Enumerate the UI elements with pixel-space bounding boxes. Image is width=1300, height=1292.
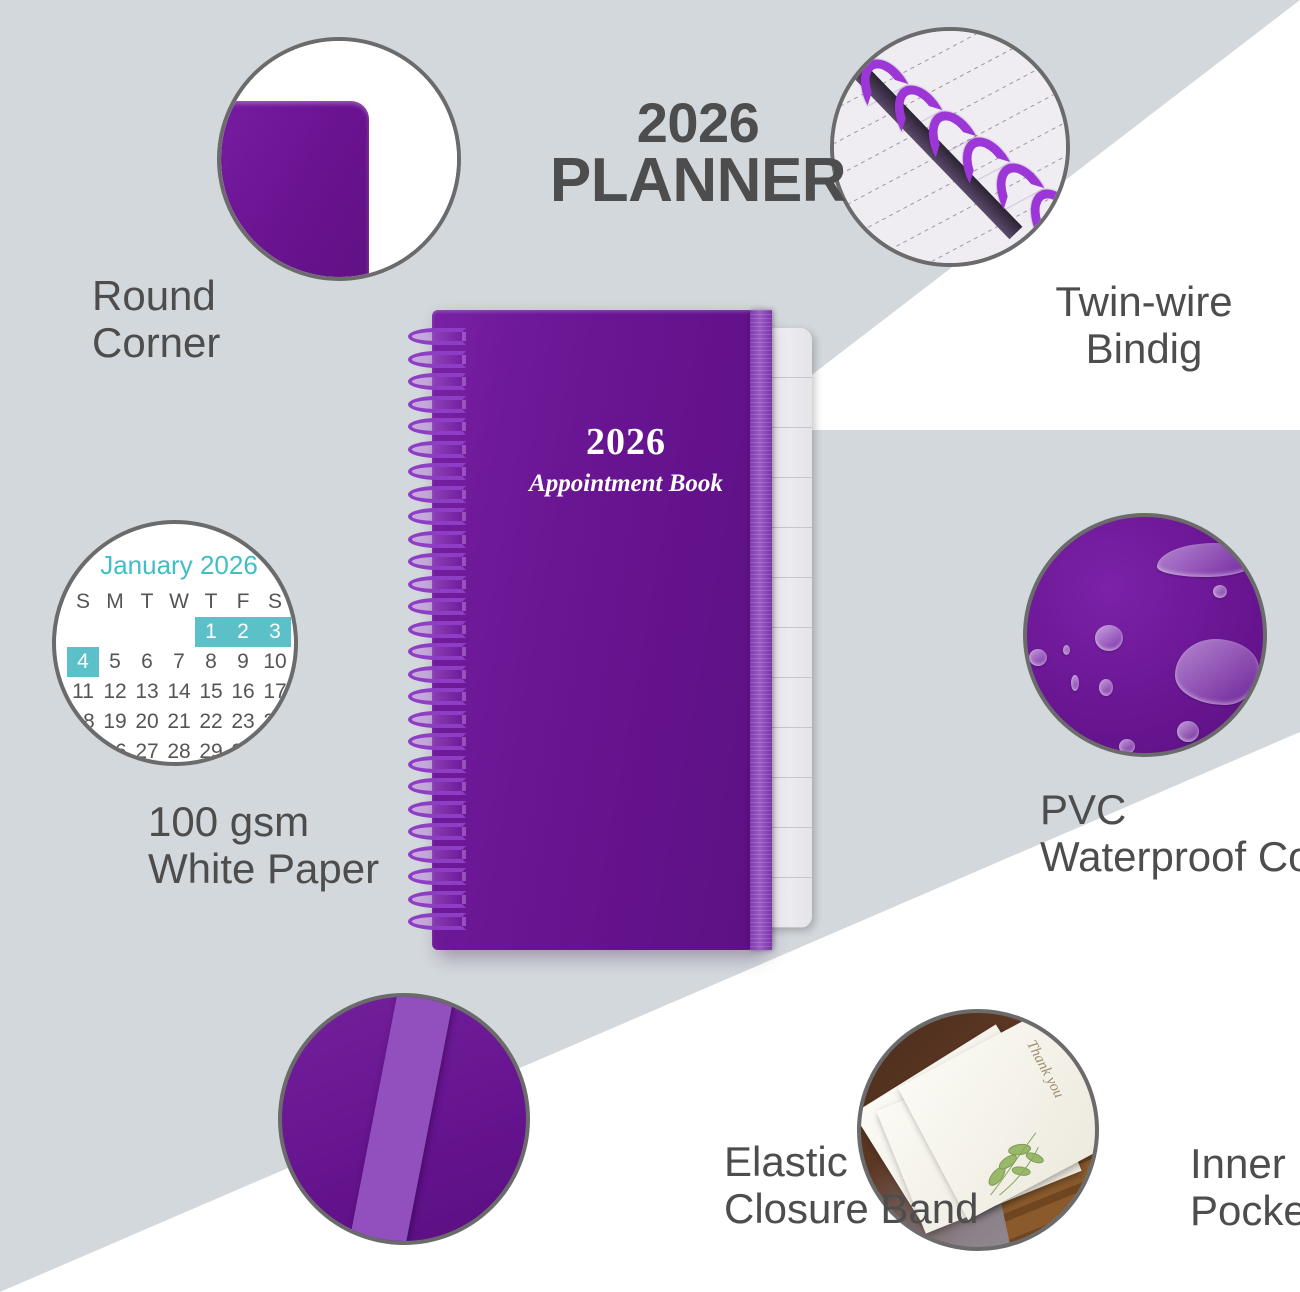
spiral-coil-loop (408, 531, 466, 548)
water-droplet (1029, 649, 1047, 666)
water-droplet (1071, 675, 1079, 691)
calendar-grid: SMTWTFS123456789101112131415161718192021… (64, 587, 294, 766)
spiral-coil-loop (408, 463, 466, 480)
caption-line-2: Bindig (1086, 325, 1203, 372)
calendar-widget: January 2026 SMTWTFS12345678910111213141… (64, 550, 294, 766)
calendar-day-cell[interactable]: 19 (99, 707, 131, 737)
round-corner-cover-swatch (217, 101, 369, 281)
calendar-day-cell[interactable]: 26 (99, 737, 131, 766)
spiral-coil-loop (408, 891, 466, 908)
spiral-coil-loop (408, 373, 466, 390)
calendar-day-cell[interactable]: 15 (195, 677, 227, 707)
spiral-coil-loop (408, 396, 466, 413)
calendar-day-cell[interactable]: 3 (259, 617, 291, 647)
planner-cover: 2026 Appointment Book (432, 310, 764, 950)
spiral-coil-loop (408, 733, 466, 750)
calendar-day-cell[interactable]: 10 (259, 647, 291, 677)
spiral-coil-loop (408, 508, 466, 525)
calendar-day-cell[interactable]: 11 (67, 677, 99, 707)
spiral-coil-loop (408, 418, 466, 435)
water-droplet (1177, 721, 1199, 742)
caption-line-1: Twin-wire (1055, 278, 1232, 325)
calendar-day-cell[interactable]: 5 (99, 647, 131, 677)
spiral-coil-loop (408, 643, 466, 660)
cover-elastic-band (750, 310, 772, 950)
calendar-day-cell[interactable]: 21 (163, 707, 195, 737)
spiral-coil-loop (408, 688, 466, 705)
calendar-day-cell[interactable]: 29 (195, 737, 227, 766)
water-droplet (1213, 585, 1227, 598)
water-droplet (1119, 739, 1135, 754)
feature-circle-white-paper: January 2026 SMTWTFS12345678910111213141… (52, 520, 298, 766)
cover-year: 2026 (460, 420, 792, 464)
calendar-weekday-header: F (227, 587, 259, 617)
water-droplet (1099, 679, 1113, 696)
calendar-empty-cell (67, 617, 99, 647)
calendar-day-cell[interactable]: 12 (99, 677, 131, 707)
calendar-weekday-header: S (259, 587, 291, 617)
calendar-empty-cell (131, 617, 163, 647)
spiral-coil-loop (408, 778, 466, 795)
water-blob (1175, 639, 1259, 705)
spiral-coil-loop (408, 823, 466, 840)
calendar-day-cell[interactable]: 31 (259, 737, 291, 766)
spiral-coil-loop (408, 666, 466, 683)
calendar-day-cell[interactable]: 27 (131, 737, 163, 766)
spiral-coil-loop (408, 486, 466, 503)
page-title: 2026 PLANNER (548, 96, 848, 212)
calendar-weekday-header: M (99, 587, 131, 617)
caption-twin-wire: Twin-wire Bindig (1046, 278, 1242, 372)
calendar-day-cell[interactable]: 1 (195, 617, 227, 647)
spiral-coil-loop (408, 846, 466, 863)
headline-year: 2026 (548, 96, 848, 151)
calendar-day-cell[interactable]: 20 (131, 707, 163, 737)
spiral-coil-loop (408, 868, 466, 885)
spiral-coil-loop (408, 913, 466, 930)
spiral-coil-loop (408, 351, 466, 368)
calendar-day-cell[interactable]: 18 (67, 707, 99, 737)
calendar-day-cell[interactable]: 28 (163, 737, 195, 766)
caption-line-2: Corner (92, 319, 220, 366)
calendar-empty-cell (99, 617, 131, 647)
calendar-day-cell[interactable]: 25 (67, 737, 99, 766)
calendar-day-cell[interactable]: 22 (195, 707, 227, 737)
calendar-day-cell[interactable]: 14 (163, 677, 195, 707)
calendar-weekday-header: S (67, 587, 99, 617)
spiral-coil-loop (408, 441, 466, 458)
twin-wire-spiral (404, 328, 474, 934)
water-blob (1157, 543, 1253, 577)
caption-round-corner: Round Corner (92, 272, 220, 366)
calendar-day-cell[interactable]: 23 (227, 707, 259, 737)
calendar-day-cell[interactable]: 30 (227, 737, 259, 766)
planner-book: JanFebMarAprMayJunJulAugSepOctNovDec 202… (404, 310, 904, 950)
water-droplet (1063, 645, 1070, 655)
caption-line-1: Round (92, 272, 216, 319)
calendar-weekday-header: T (131, 587, 163, 617)
cover-subtitle: Appointment Book (460, 470, 792, 498)
calendar-day-cell[interactable]: 6 (131, 647, 163, 677)
calendar-title: January 2026 (64, 550, 294, 581)
feature-circle-pvc-cover (1023, 513, 1267, 757)
calendar-day-cell[interactable]: 16 (227, 677, 259, 707)
calendar-day-cell[interactable]: 13 (131, 677, 163, 707)
calendar-weekday-header: W (163, 587, 195, 617)
calendar-day-cell[interactable]: 7 (163, 647, 195, 677)
calendar-day-cell[interactable]: 17 (259, 677, 291, 707)
calendar-day-cell[interactable]: 2 (227, 617, 259, 647)
spiral-coil-loop (408, 801, 466, 818)
feature-circle-elastic-band (278, 993, 530, 1245)
cover-title-block: 2026 Appointment Book (460, 420, 792, 498)
calendar-day-cell[interactable]: 9 (227, 647, 259, 677)
elastic-band-strip (340, 993, 460, 1245)
spiral-coil-loop (408, 553, 466, 570)
spiral-coil-loop (408, 576, 466, 593)
headline-word: PLANNER (548, 151, 848, 212)
water-droplet (1095, 625, 1123, 651)
calendar-empty-cell (163, 617, 195, 647)
feature-circle-twin-wire (830, 27, 1070, 267)
spiral-coil-loop (408, 621, 466, 638)
spiral-coil-loop (408, 598, 466, 615)
calendar-day-cell[interactable]: 8 (195, 647, 227, 677)
feature-circle-round-corner (217, 37, 461, 281)
calendar-weekday-header: T (195, 587, 227, 617)
spiral-coil-loop (408, 328, 466, 345)
calendar-day-cell[interactable]: 24 (259, 707, 291, 737)
calendar-day-cell[interactable]: 4 (67, 647, 99, 677)
spiral-coil-loop (408, 756, 466, 773)
spiral-coil-loop (408, 711, 466, 728)
